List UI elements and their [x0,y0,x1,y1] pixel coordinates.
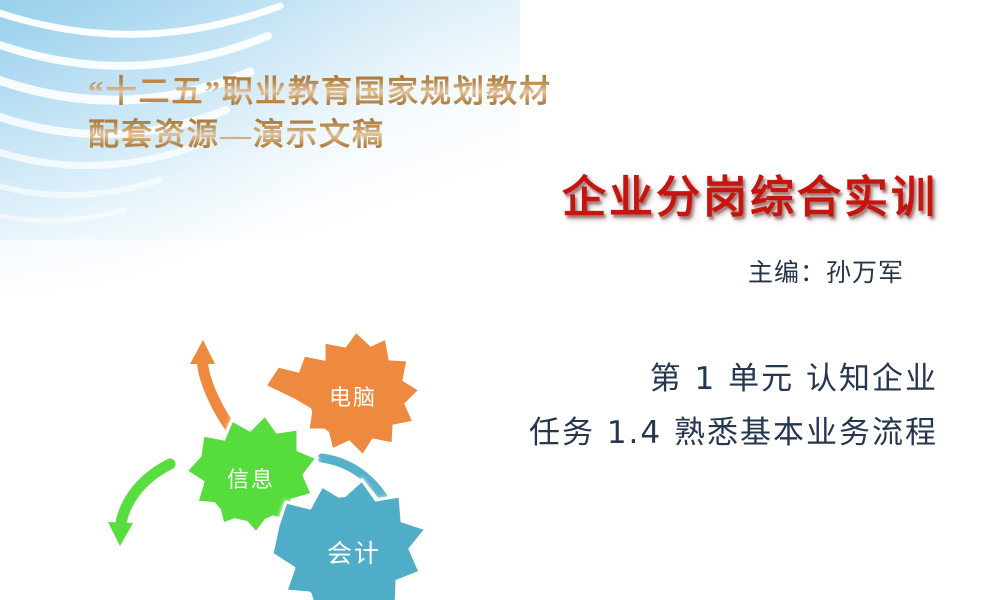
unit-line: 第 1 单元 认知企业 [529,352,938,406]
editor-credit: 主编：孙万军 [748,255,904,291]
unit-task-block: 第 1 单元 认知企业 任务 1.4 熟悉基本业务流程 [529,352,938,460]
header-line-1: “十二五”职业教育国家规划教材 [88,70,708,113]
header-line-2: 配套资源—演示文稿 [88,113,708,156]
header-block: “十二五”职业教育国家规划教材 配套资源—演示文稿 [88,70,708,156]
task-line: 任务 1.4 熟悉基本业务流程 [529,406,938,460]
page-title: 企业分岗综合实训 [562,170,938,226]
presentation-slide: “十二五”职业教育国家规划教材 配套资源—演示文稿 企业分岗综合实训 主编：孙万… [0,0,1000,600]
